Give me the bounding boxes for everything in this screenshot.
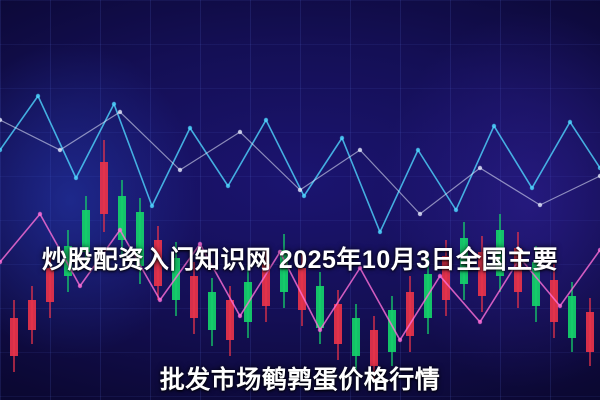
overlay-headline-line1: 炒股配资入门知识网 2025年10月3日全国主要	[0, 240, 600, 280]
screenshot-canvas: 炒股配资入门知识网 2025年10月3日全国主要 批发市场鹌鹑蛋价格行情	[0, 0, 600, 400]
overlay-headline-line2: 批发市场鹌鹑蛋价格行情	[0, 360, 600, 400]
overlay-headline: 炒股配资入门知识网 2025年10月3日全国主要 批发市场鹌鹑蛋价格行情	[0, 160, 600, 400]
